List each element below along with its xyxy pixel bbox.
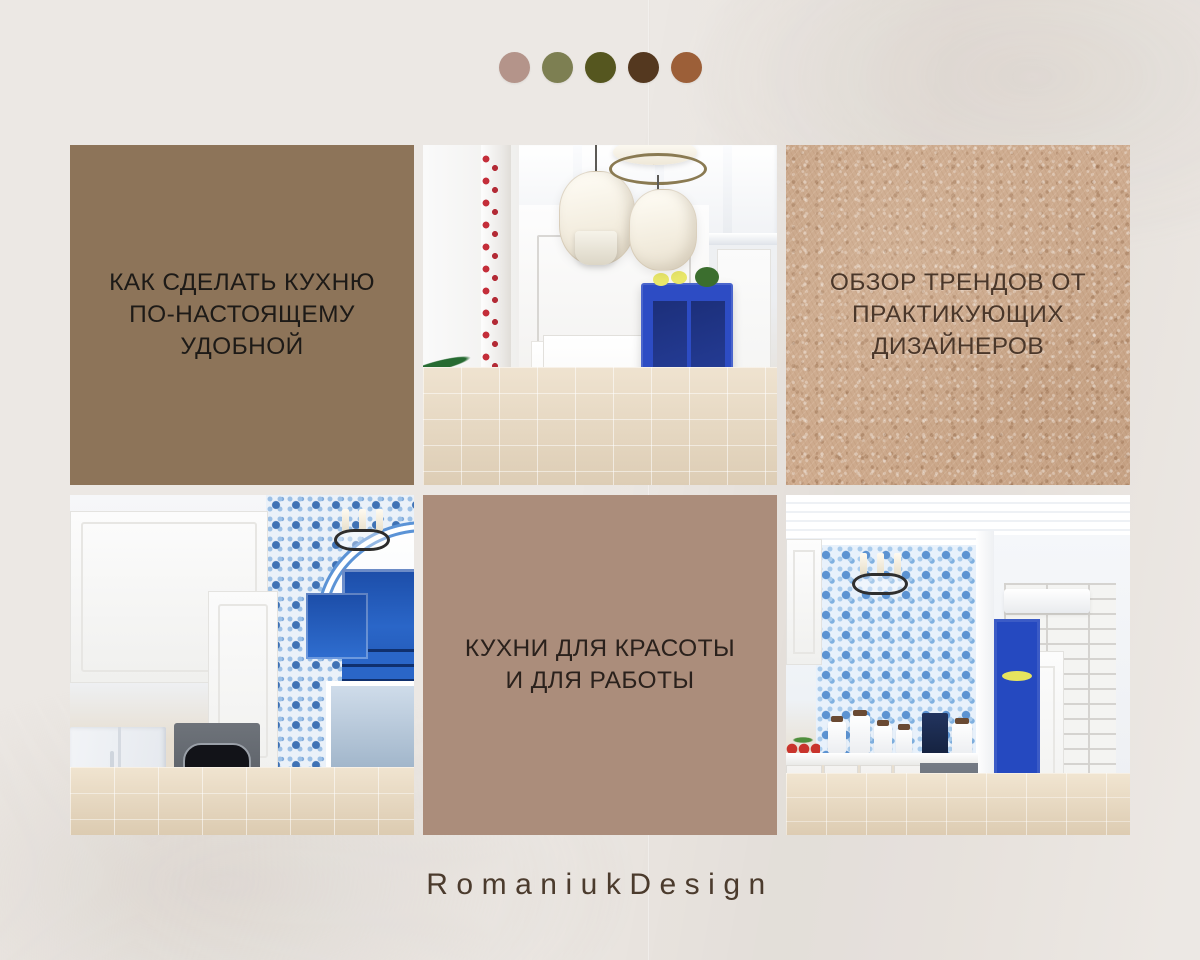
tile-floor [423, 367, 777, 485]
small-chandelier [575, 231, 617, 265]
coffee-machine [922, 713, 948, 755]
storage-jar [850, 715, 870, 753]
content-grid: КАК СДЕЛАТЬ КУХНЮ ПО-НАСТОЯЩЕМУ УДОБНОЙ [70, 145, 1130, 845]
tile-photo-classic-blue-kitchen [423, 145, 777, 485]
ceiling-beam [723, 145, 732, 241]
canister [952, 723, 972, 755]
headline-2-text: ОБЗОР ТРЕНДОВ ОТ ПРАКТИКУЮЩИХ ДИЗАЙНЕРОВ [814, 267, 1102, 363]
poster-canvas: КАК СДЕЛАТЬ КУХНЮ ПО-НАСТОЯЩЕМУ УДОБНОЙ [0, 0, 1200, 960]
window [326, 681, 414, 777]
tile-headline-1: КАК СДЕЛАТЬ КУХНЮ ПО-НАСТОЯЩЕМУ УДОБНОЙ [70, 145, 414, 485]
swatch-dark-olive [585, 52, 616, 83]
color-swatch-row [0, 52, 1200, 83]
blue-roman-blind [306, 593, 368, 659]
tile-floor [786, 773, 1130, 835]
air-conditioner [1004, 589, 1090, 613]
bowl-of-fruit [1002, 671, 1032, 681]
swatch-dark-brown [628, 52, 659, 83]
tile-headline-3: КУХНИ ДЛЯ КРАСОТЫ И ДЛЯ РАБОТЫ [423, 495, 777, 835]
tile-headline-2: ОБЗОР ТРЕНДОВ ОТ ПРАКТИКУЮЩИХ ДИЗАЙНЕРОВ [786, 145, 1130, 485]
storage-jar [896, 729, 912, 753]
headline-3-text: КУХНИ ДЛЯ КРАСОТЫ И ДЛЯ РАБОТЫ [449, 633, 751, 697]
brand-wordmark: RomaniukDesign [0, 868, 1200, 902]
swatch-dusty-rose [499, 52, 530, 83]
storage-jar [828, 721, 846, 753]
fruit-watermelon [695, 267, 719, 287]
tile-photo-white-kitchen-blinds [70, 495, 414, 835]
chandelier [334, 507, 390, 551]
storage-jar [874, 725, 892, 753]
upper-cabinet [786, 539, 822, 665]
fruit-lemon [653, 273, 669, 286]
tile-floor [70, 767, 414, 835]
lantern-pendant-light [629, 189, 697, 271]
swatch-sienna [671, 52, 702, 83]
chandelier [852, 551, 908, 595]
headline-1-text: КАК СДЕЛАТЬ КУХНЮ ПО-НАСТОЯЩЕМУ УДОБНОЙ [93, 267, 391, 363]
fruit-lemon [671, 271, 687, 284]
swatch-olive [542, 52, 573, 83]
tile-photo-blue-tile-kitchen [786, 495, 1130, 835]
